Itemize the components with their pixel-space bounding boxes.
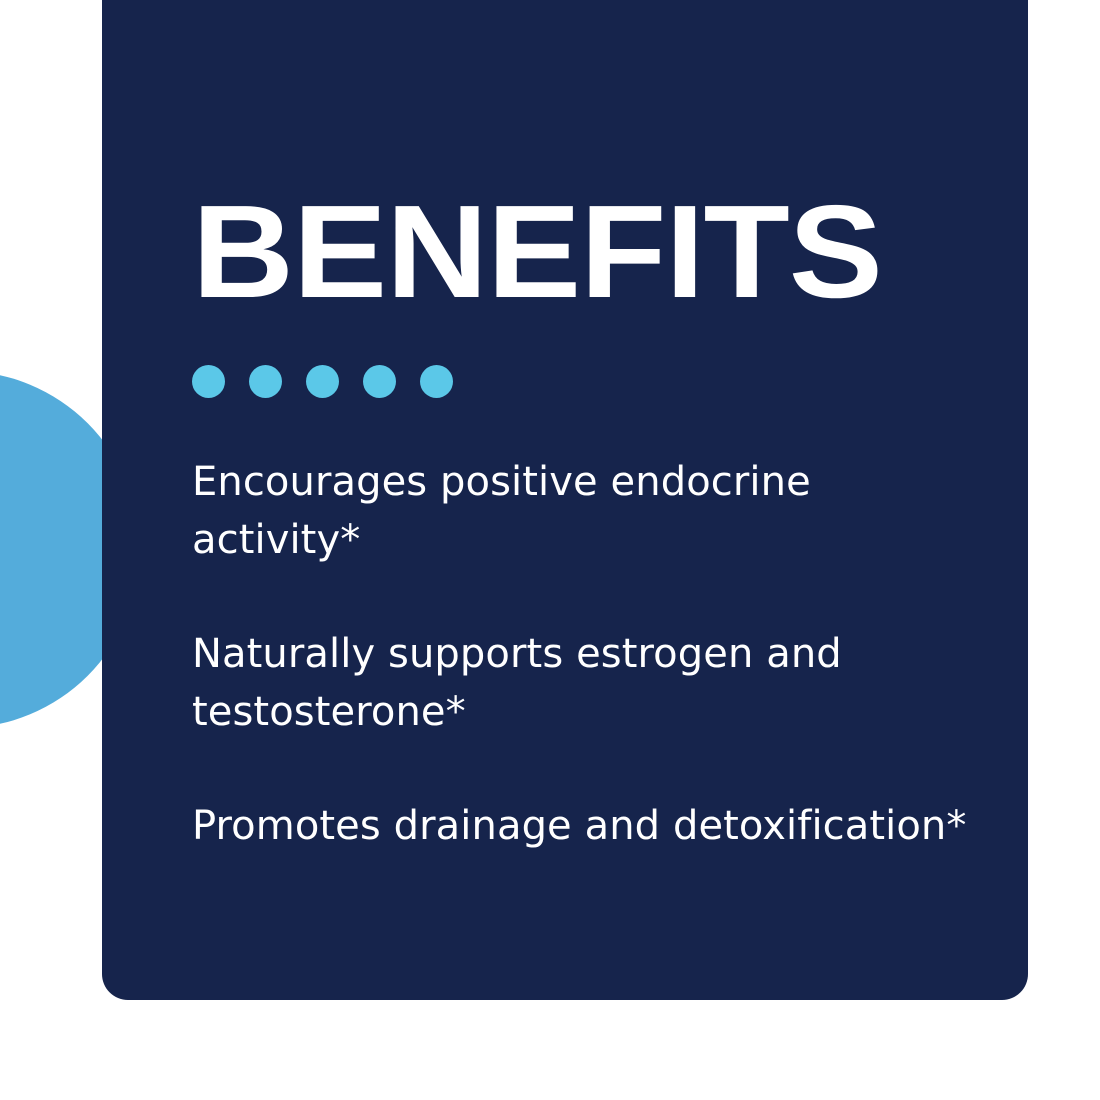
benefits-card-canvas: BENEFITS Encourages positive endocrine a… bbox=[0, 0, 1100, 1100]
divider-dot-icon bbox=[363, 365, 396, 398]
page-title: BENEFITS bbox=[192, 186, 882, 318]
divider-dot-icon bbox=[249, 365, 282, 398]
benefits-card: BENEFITS Encourages positive endocrine a… bbox=[102, 0, 1028, 1000]
benefits-card-content: BENEFITS Encourages positive endocrine a… bbox=[192, 0, 980, 1000]
divider-dot-icon bbox=[420, 365, 453, 398]
divider-dot-icon bbox=[192, 365, 225, 398]
dot-divider bbox=[192, 365, 453, 398]
benefits-list: Encourages positive endocrine activity* … bbox=[192, 453, 980, 855]
divider-dot-icon bbox=[306, 365, 339, 398]
list-item: Promotes drainage and detoxification* bbox=[192, 797, 972, 855]
list-item: Naturally supports estrogen and testoste… bbox=[192, 625, 972, 741]
list-item: Encourages positive endocrine activity* bbox=[192, 453, 972, 569]
